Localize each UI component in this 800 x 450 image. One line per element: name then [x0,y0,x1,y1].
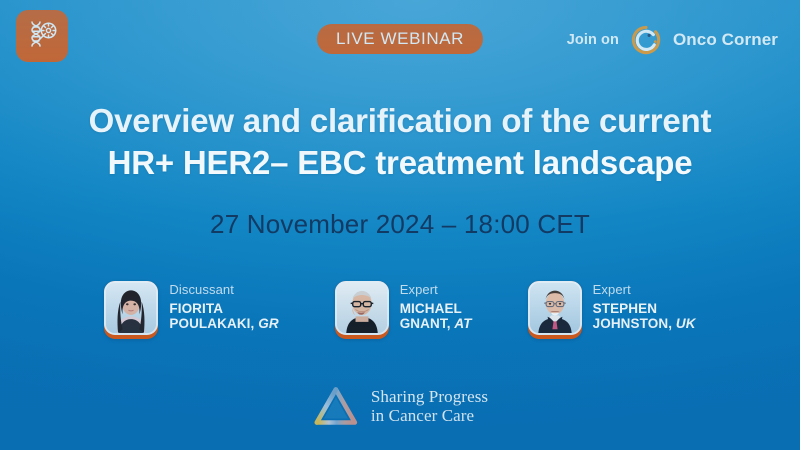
portrait-photo-stephen-johnston [528,281,582,335]
onco-corner-line1: Onco [673,30,717,49]
speakers-list: Discussant FIORITA POULAKAKI, GR [0,281,800,339]
speaker-last-name: POULAKAKI [169,316,250,331]
speaker-card: Expert STEPHEN JOHNSTON, UK [528,281,696,339]
onco-corner-circle-icon [630,24,662,56]
speaker-name: MICHAEL GNANT, AT [400,301,472,332]
title-line-1: Overview and clarification of the curren… [89,102,712,139]
speaker-last-name: GNANT [400,316,447,331]
webinar-datetime: 27 November 2024 – 18:00 CET [0,209,800,240]
page-title: Overview and clarification of the curren… [0,100,800,184]
speaker-info: Expert STEPHEN JOHNSTON, UK [593,281,696,332]
speaker-card: Expert MICHAEL GNANT, AT [335,281,472,339]
speaker-role: Discussant [169,282,278,298]
speaker-name-separator: , [447,316,451,331]
brand-logo [16,10,68,62]
onco-corner-line2: Corner [722,30,778,49]
speaker-name-separator: , [251,316,255,331]
speaker-name: STEPHEN JOHNSTON, UK [593,301,696,332]
join-on-platform[interactable]: Join on Onco Corner [567,24,778,56]
speaker-name-separator: , [668,316,672,331]
speaker-name: FIORITA POULAKAKI, GR [169,301,278,332]
speaker-role: Expert [593,282,696,298]
speaker-card: Discussant FIORITA POULAKAKI, GR [104,281,278,339]
live-webinar-badge: LIVE WEBINAR [317,24,483,54]
speaker-photo-frame [335,281,389,339]
speaker-photo-frame [528,281,582,339]
spcc-line-2: in Cancer Care [371,406,488,425]
speaker-country: UK [676,316,696,331]
portrait-photo-fiorita-poulakaki [104,281,158,335]
speaker-info: Expert MICHAEL GNANT, AT [400,281,472,332]
speaker-first-name: STEPHEN [593,301,657,316]
speaker-first-name: MICHAEL [400,301,462,316]
spcc-triangle-icon [312,384,360,428]
portrait-photo-michael-gnant [335,281,389,335]
join-on-label: Join on [567,32,619,48]
webinar-poster: LIVE WEBINAR Join on Onco Corner Overvie… [0,0,800,450]
title-line-2: HR+ HER2– EBC treatment landscape [40,142,760,184]
spcc-logo: Sharing Progress in Cancer Care [312,384,488,428]
spcc-line-1: Sharing Progress [371,387,488,406]
speaker-photo-frame [104,281,158,339]
spcc-wordmark: Sharing Progress in Cancer Care [371,387,488,426]
dna-magnifier-icon [24,18,60,54]
speaker-info: Discussant FIORITA POULAKAKI, GR [169,281,278,332]
onco-corner-wordmark: Onco Corner [673,31,778,48]
speaker-country: AT [454,316,471,331]
speaker-country: GR [258,316,278,331]
speaker-first-name: FIORITA [169,301,223,316]
speaker-role: Expert [400,282,472,298]
speaker-last-name: JOHNSTON [593,316,669,331]
